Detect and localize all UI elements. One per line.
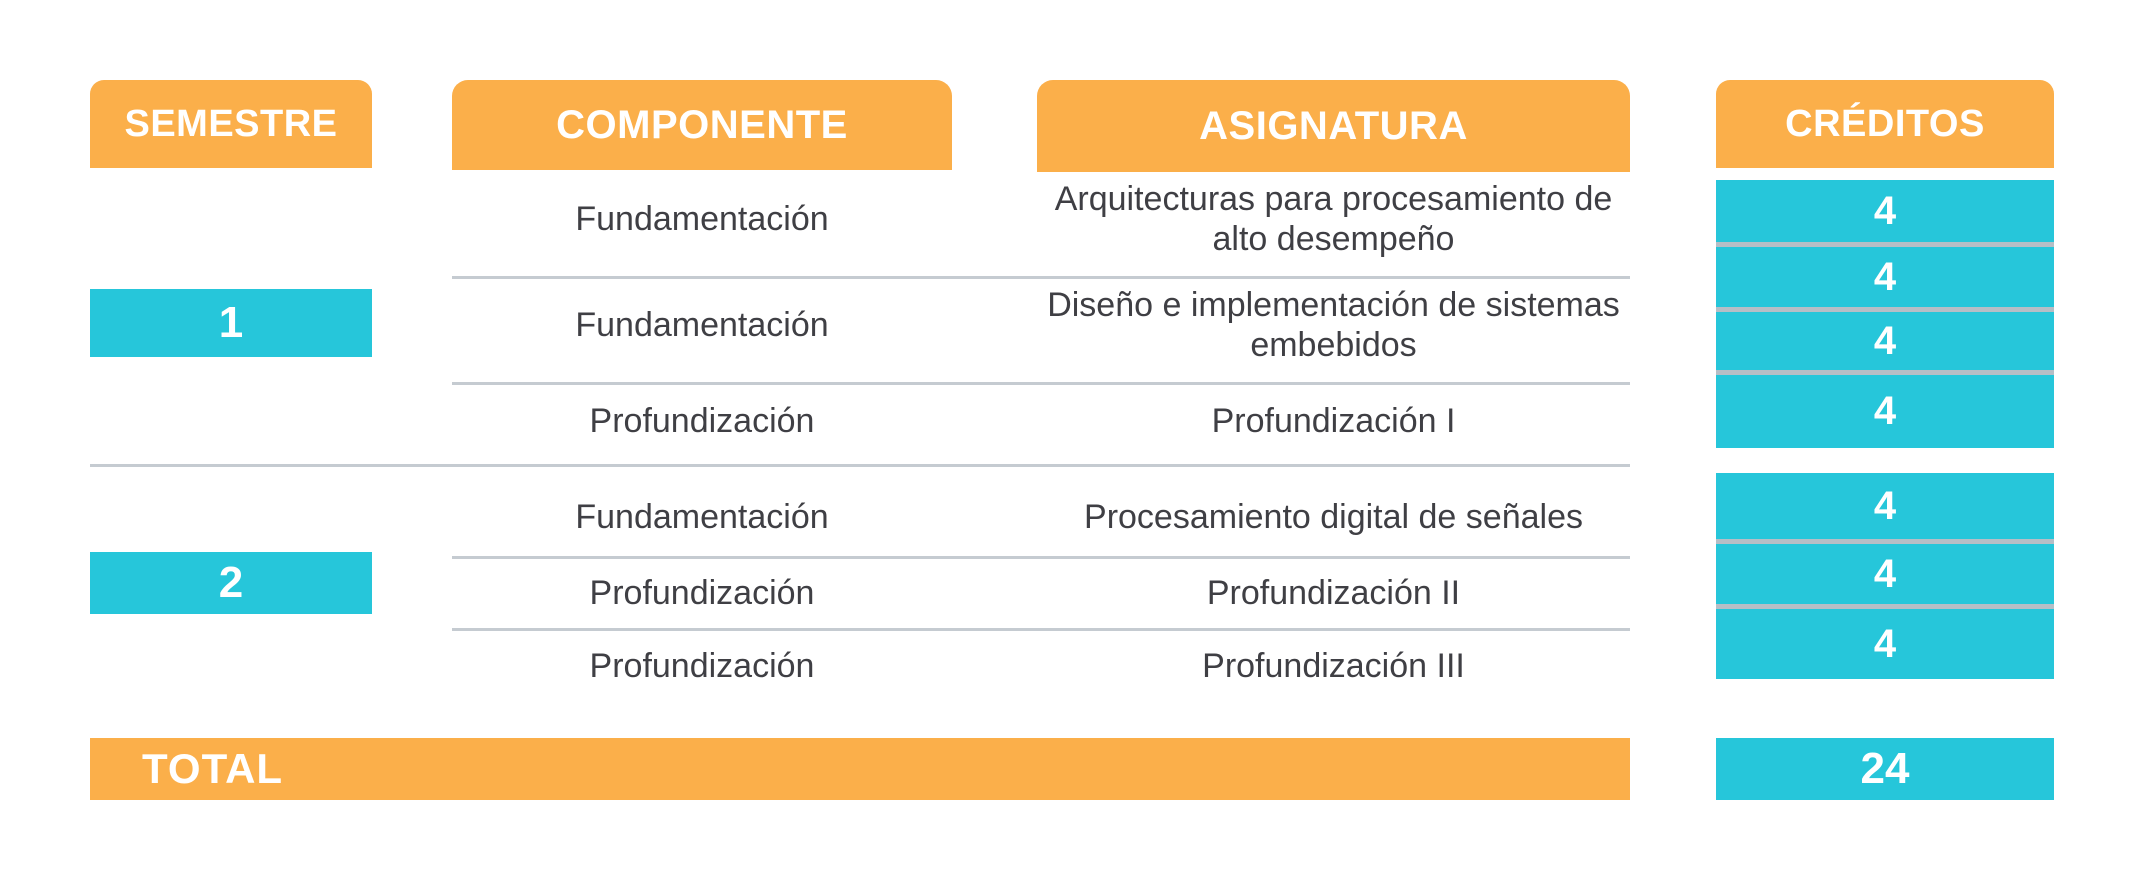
componente-cell: Fundamentación [452, 482, 952, 552]
semester-badge-2: 2 [90, 552, 372, 614]
asignatura-cell: Diseño e implementación de sistemas embe… [1037, 290, 1630, 360]
semester-badge-1: 1 [90, 289, 372, 357]
componente-cell: Profundización [452, 643, 952, 689]
asignatura-cell: Profundización III [1037, 643, 1630, 689]
componente-cell: Fundamentación [452, 290, 952, 360]
curriculum-table: SEMESTRE COMPONENTE ASIGNATURA CRÉDITOS … [0, 0, 2143, 891]
total-creditos: 24 [1716, 738, 2054, 800]
creditos-cell: 4 [1716, 375, 2054, 448]
row-divider [452, 556, 1630, 559]
asignatura-cell: Profundización I [1037, 398, 1630, 444]
column-header-semestre: SEMESTRE [90, 80, 372, 168]
creditos-cell: 4 [1716, 609, 2054, 679]
semester-group-divider [90, 464, 1630, 467]
creditos-cell: 4 [1716, 544, 2054, 604]
creditos-cell: 4 [1716, 473, 2054, 539]
componente-cell: Fundamentación [452, 184, 952, 254]
creditos-cell: 4 [1716, 180, 2054, 242]
column-header-componente: COMPONENTE [452, 80, 952, 170]
componente-cell: Profundización [452, 570, 952, 616]
asignatura-cell: Procesamiento digital de señales [1037, 482, 1630, 552]
row-divider [452, 276, 1630, 279]
column-header-asignatura: ASIGNATURA [1037, 80, 1630, 172]
componente-cell: Profundización [452, 398, 952, 444]
creditos-cell: 4 [1716, 312, 2054, 370]
total-label: TOTAL [90, 738, 1630, 800]
column-header-creditos: CRÉDITOS [1716, 80, 2054, 168]
creditos-cell: 4 [1716, 247, 2054, 307]
asignatura-cell: Profundización II [1037, 570, 1630, 616]
asignatura-cell: Arquitecturas para procesamiento de alto… [1037, 184, 1630, 254]
row-divider [452, 382, 1630, 385]
row-divider [452, 628, 1630, 631]
